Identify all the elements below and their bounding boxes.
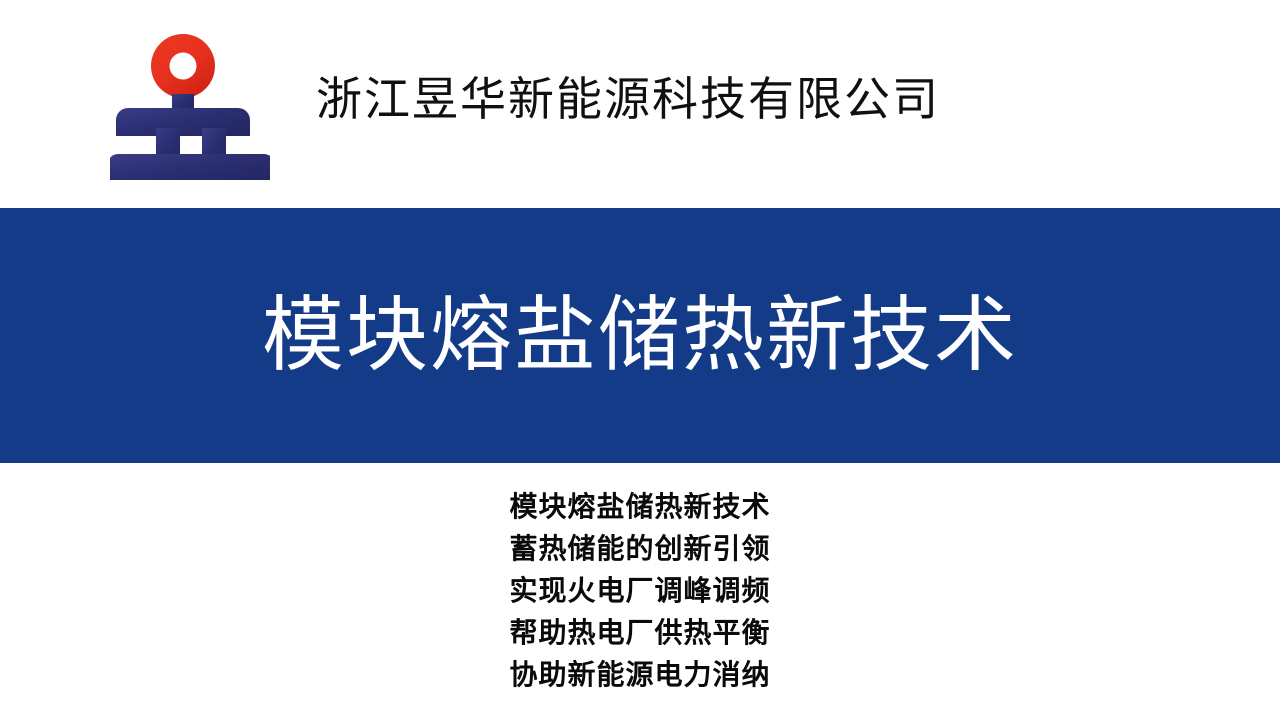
presentation-slide: 浙江昱华新能源科技有限公司 模块熔盐储热新技术 模块熔盐储热新技术 蓄热储能的创… (0, 0, 1280, 720)
tagline-item: 实现火电厂调峰调频 (0, 571, 1280, 613)
company-logo-icon (110, 28, 270, 180)
company-name: 浙江昱华新能源科技有限公司 (316, 70, 940, 130)
slide-header: 浙江昱华新能源科技有限公司 (0, 0, 1280, 208)
title-banner: 模块熔盐储热新技术 (0, 208, 1280, 463)
tagline-list: 模块熔盐储热新技术 蓄热储能的创新引领 实现火电厂调峰调频 帮助热电厂供热平衡 … (0, 487, 1280, 697)
tagline-item: 模块熔盐储热新技术 (0, 487, 1280, 529)
tagline-item: 协助新能源电力消纳 (0, 655, 1280, 697)
tagline-item: 蓄热储能的创新引领 (0, 529, 1280, 571)
logo-navy-base-icon (110, 94, 270, 180)
logo-red-ring-icon (151, 34, 215, 98)
company-logo (110, 28, 270, 180)
slide-main-title: 模块熔盐储热新技术 (0, 208, 1280, 463)
tagline-item: 帮助热电厂供热平衡 (0, 613, 1280, 655)
